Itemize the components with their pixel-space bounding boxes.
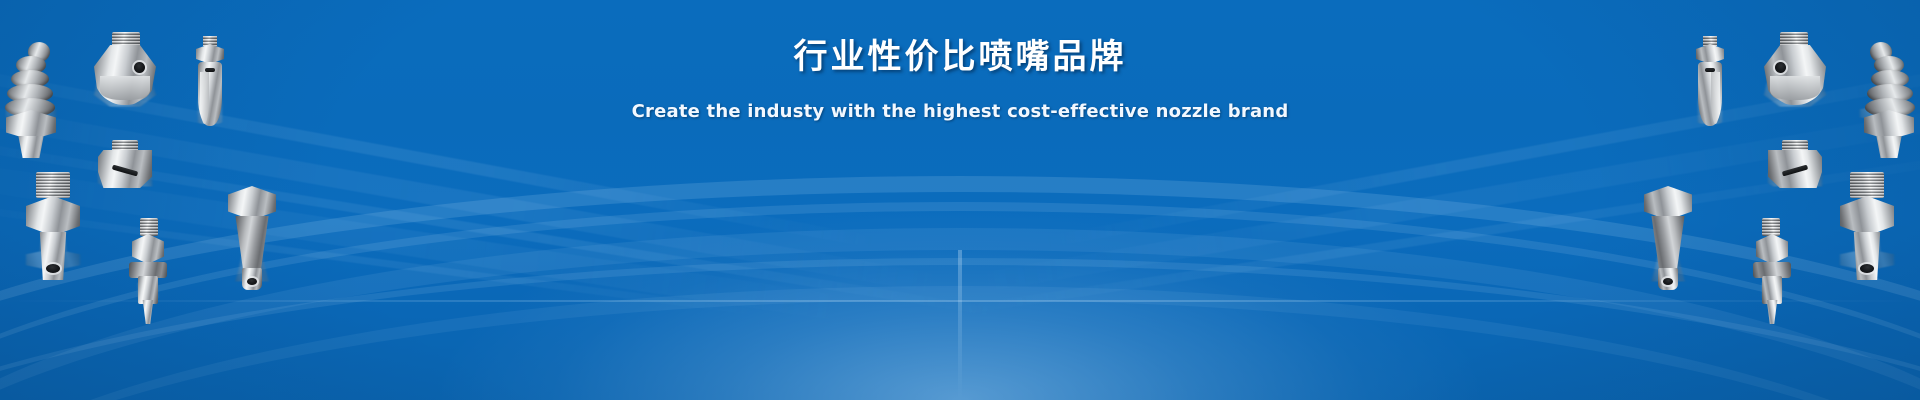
product-tapered-cone-nozzle-left [224,186,280,298]
needle-stem [1762,276,1782,304]
orifice [1860,264,1874,273]
hex-body [132,234,164,264]
orifice [46,264,60,273]
nozzle-shank [1874,136,1904,158]
hero-banner: 行业性价比喷嘴品牌 Create the industy with the hi… [0,0,1920,400]
hex-body [26,196,80,236]
wave-arc [0,286,1920,400]
tapered-body [1650,216,1686,272]
banner-subline: Create the industy with the highest cost… [0,101,1920,122]
product-adjustable-nozzle-right [1750,218,1794,330]
product-tapered-cone-nozzle-right [1640,186,1696,298]
hex-body [1644,186,1692,220]
hex-body [1756,234,1788,264]
threaded-inlet [1850,172,1884,198]
wave-arc [0,202,1920,400]
banner-text-block: 行业性价比喷嘴品牌 Create the industy with the hi… [0,36,1920,122]
hex-body [228,186,276,220]
product-flat-fan-nozzle-small-right [1766,140,1824,192]
light-streak [0,196,773,318]
banner-headline: 行业性价比喷嘴品牌 [0,36,1920,79]
product-hex-threaded-nozzle-left [22,172,84,284]
wave-arc [0,176,1920,400]
product-hex-threaded-nozzle-right [1836,172,1898,284]
hex-body [1840,196,1894,236]
horizon-line [0,300,1920,302]
tapered-body [234,216,270,272]
wave-arc [0,228,1920,400]
threaded-inlet [1762,218,1780,236]
center-glow [958,250,962,400]
orifice [247,278,257,285]
wave-arc [0,258,1920,400]
needle-stem [138,276,158,304]
nozzle-shank [16,136,46,158]
threaded-inlet [140,218,158,236]
orifice [1663,278,1673,285]
threaded-inlet [36,172,70,198]
product-adjustable-nozzle-left [126,218,170,330]
product-flat-fan-nozzle-small-left [96,140,154,192]
